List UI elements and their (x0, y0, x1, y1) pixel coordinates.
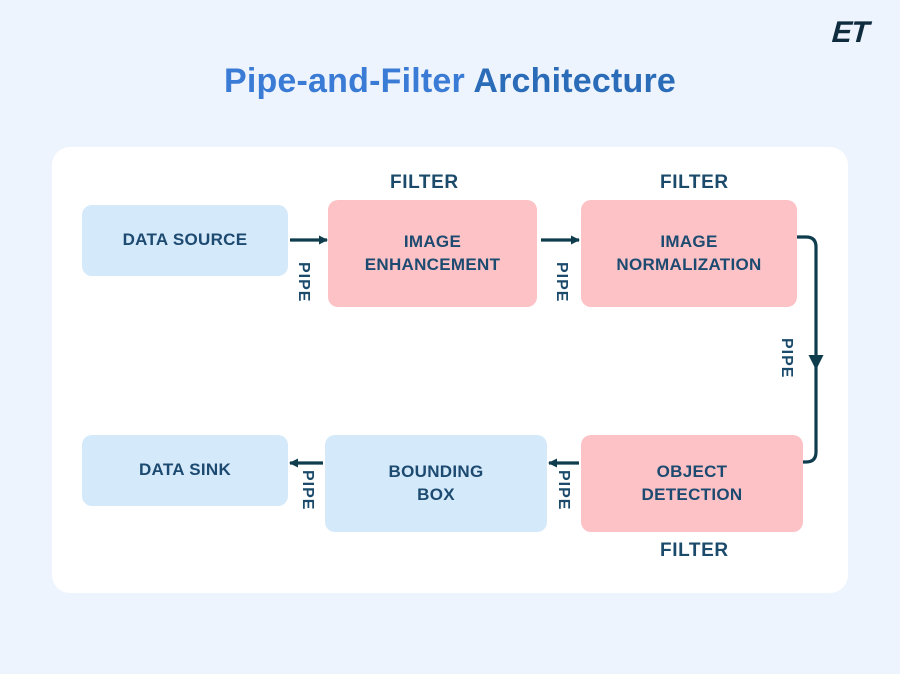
node-object-detection[interactable]: OBJECT DETECTION (581, 435, 803, 532)
node-image-enhancement-label: IMAGE ENHANCEMENT (365, 231, 501, 277)
node-image-enhancement[interactable]: IMAGE ENHANCEMENT (328, 200, 537, 307)
page-title-part-2: Architecture (473, 62, 676, 100)
page-title-part-1: Pipe-and-Filter (224, 62, 465, 100)
node-line-1: OBJECT (657, 462, 728, 481)
node-line-2: DETECTION (642, 485, 743, 504)
node-object-detection-label: OBJECT DETECTION (642, 461, 743, 507)
node-line-2: NORMALIZATION (616, 255, 761, 274)
node-data-source[interactable]: DATA SOURCE (82, 205, 288, 276)
node-bounding-box-label: BOUNDING BOX (389, 461, 484, 507)
pipe-label-2: PIPE (552, 262, 570, 302)
pipe-label-1: PIPE (294, 262, 312, 302)
caption-filter-object-detection: FILTER (660, 540, 729, 562)
pipe-label-4: PIPE (554, 470, 572, 510)
caption-filter-image-enhancement: FILTER (390, 172, 459, 194)
node-line-1: IMAGE (660, 232, 717, 251)
node-data-sink-label: DATA SINK (139, 459, 231, 482)
node-line-1: BOUNDING (389, 462, 484, 481)
caption-filter-image-normalization: FILTER (660, 172, 729, 194)
node-line-2: BOX (417, 485, 455, 504)
node-data-sink[interactable]: DATA SINK (82, 435, 288, 506)
page-title: Pipe-and-Filter Architecture (0, 62, 900, 101)
node-line-1: IMAGE (404, 232, 461, 251)
et-logo: ET (830, 16, 869, 50)
node-image-normalization[interactable]: IMAGE NORMALIZATION (581, 200, 797, 307)
node-image-normalization-label: IMAGE NORMALIZATION (616, 231, 761, 277)
node-bounding-box[interactable]: BOUNDING BOX (325, 435, 547, 532)
node-data-source-label: DATA SOURCE (123, 229, 248, 252)
pipe-label-3: PIPE (777, 338, 795, 378)
pipe-label-5: PIPE (298, 470, 316, 510)
node-line-2: ENHANCEMENT (365, 255, 501, 274)
